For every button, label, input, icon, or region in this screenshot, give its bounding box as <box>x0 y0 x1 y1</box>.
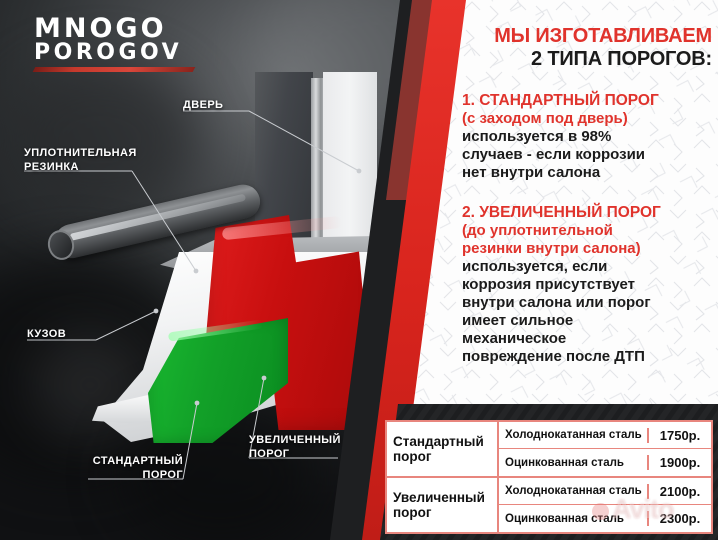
row2-item1-price: 2100р. <box>647 484 711 499</box>
callout-door-label: ДВЕРЬ <box>183 99 223 111</box>
table-row-standard: Стандартный порог Холоднокатанная сталь … <box>387 422 711 478</box>
callout-extended: УВЕЛИЧЕННЫЙ ПОРОГ <box>249 434 338 462</box>
advertisement-image: ДВЕРЬ УПЛОТНИТЕЛЬНАЯ РЕЗИНКА КУЗОВ СТАНД… <box>0 0 718 540</box>
callout-body-label: КУЗОВ <box>27 328 66 340</box>
logo-line-porogov: POROGOV <box>34 42 199 64</box>
block2-body-line1: используется, если <box>462 258 712 276</box>
background-shade <box>0 60 200 220</box>
table-row-standard-items: Холоднокатанная сталь 1750р. Оцинкованна… <box>499 422 711 476</box>
block1-title: 1. СТАНДАРТНЫЙ ПОРОГ <box>462 92 712 110</box>
callout-seal: УПЛОТНИТЕЛЬНАЯ РЕЗИНКА <box>24 147 137 175</box>
callout-seal-label-line1: УПЛОТНИТЕЛЬНАЯ <box>24 147 137 159</box>
callout-extended-label-line2: ПОРОГ <box>249 448 289 460</box>
block1-body-line3: нет внутри салона <box>462 164 712 182</box>
row2-item2-material: Оцинкованная сталь <box>499 513 647 525</box>
callout-body: КУЗОВ <box>27 328 66 342</box>
brand-logo: MNOGO POROGOV <box>34 16 199 72</box>
description-block-extended: 2. УВЕЛИЧЕННЫЙ ПОРОГ (до уплотнительной … <box>462 204 712 366</box>
price-table: Стандартный порог Холоднокатанная сталь … <box>385 420 713 534</box>
table-subrow: Оцинкованная сталь 2300р. <box>499 505 711 532</box>
block2-body-line3: внутри салона или порог <box>462 294 712 312</box>
block2-body-line2: коррозия присутствует <box>462 276 712 294</box>
row1-item2-price: 1900р. <box>647 455 711 470</box>
headline-line1: МЫ ИЗГОТАВЛИВАЕМ <box>466 26 712 48</box>
logo-underline-bar <box>33 67 196 72</box>
description-block-standard: 1. СТАНДАРТНЫЙ ПОРОГ (с заходом под двер… <box>462 92 712 182</box>
row2-item1-material: Холоднокатанная сталь <box>499 485 647 497</box>
table-row-standard-name: Стандартный порог <box>387 422 499 476</box>
row1-name-line1: Стандартный <box>393 434 484 449</box>
block2-body-line4: имеет сильное <box>462 312 712 330</box>
row2-name-line1: Увеличенный <box>393 490 485 505</box>
table-subrow: Холоднокатанная сталь 1750р. <box>499 422 711 449</box>
callout-standard-label-line2: ПОРОГ <box>143 469 183 481</box>
block2-title: 2. УВЕЛИЧЕННЫЙ ПОРОГ <box>462 204 712 222</box>
callout-extended-label-line1: УВЕЛИЧЕННЫЙ <box>249 434 341 446</box>
headline-line2: 2 ТИПА ПОРОГОВ: <box>466 48 712 71</box>
headline: МЫ ИЗГОТАВЛИВАЕМ 2 ТИПА ПОРОГОВ: <box>466 26 712 71</box>
table-row-extended-items: Холоднокатанная сталь 2100р. Оцинкованна… <box>499 478 711 532</box>
row1-item1-material: Холоднокатанная сталь <box>499 429 647 441</box>
row1-name-line2: порог <box>393 449 484 464</box>
callout-door: ДВЕРЬ <box>183 99 223 113</box>
block2-body-line6: повреждение после ДТП <box>462 348 712 366</box>
logo-line-mnogo: MNOGO <box>34 16 199 42</box>
block2-body-line5: механическое <box>462 330 712 348</box>
table-subrow: Оцинкованная сталь 1900р. <box>499 449 711 476</box>
row2-item2-price: 2300р. <box>647 511 711 526</box>
block1-subtitle: (с заходом под дверь) <box>462 110 712 128</box>
row1-item2-material: Оцинкованная сталь <box>499 457 647 469</box>
row1-item1-price: 1750р. <box>647 428 711 443</box>
block1-body-line2: случаев - если коррозии <box>462 146 712 164</box>
block1-body-line1: используется в 98% <box>462 128 712 146</box>
row2-name-line2: порог <box>393 505 485 520</box>
callout-seal-label-line2: РЕЗИНКА <box>24 161 79 173</box>
block2-subtitle-line1: (до уплотнительной <box>462 222 712 240</box>
table-row-extended: Увеличенный порог Холоднокатанная сталь … <box>387 478 711 532</box>
block2-subtitle-line2: резинки внутри салона) <box>462 240 712 258</box>
table-subrow: Холоднокатанная сталь 2100р. <box>499 478 711 505</box>
callout-standard-label-line1: СТАНДАРТНЫЙ <box>93 455 183 467</box>
table-row-extended-name: Увеличенный порог <box>387 478 499 532</box>
callout-standard: СТАНДАРТНЫЙ ПОРОГ <box>88 455 183 483</box>
